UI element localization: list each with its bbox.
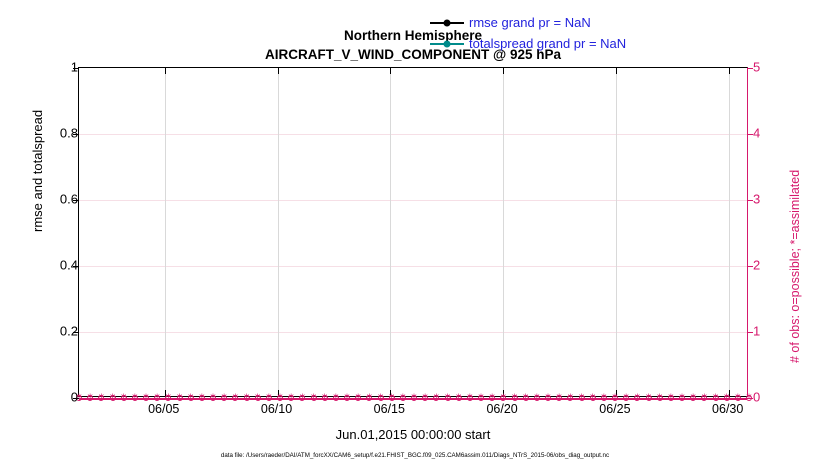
obs-assimilated-marker: * (635, 392, 641, 403)
obs-assimilated-marker: * (545, 392, 551, 403)
gridline-vertical (729, 68, 730, 396)
obs-assimilated-marker: * (132, 392, 138, 403)
x-tick-label: 06/30 (712, 402, 743, 416)
x-tick-label: 06/25 (599, 402, 630, 416)
gridline-vertical (616, 68, 617, 396)
obs-assimilated-marker: * (99, 392, 105, 403)
gridline-horizontal (79, 134, 747, 135)
tick-top (165, 68, 166, 74)
chart-legend: rmse grand pr = NaN totalspread grand pr… (430, 14, 626, 52)
obs-assimilated-marker: * (121, 392, 127, 403)
tick-top (616, 68, 617, 74)
obs-assimilated-marker: * (344, 392, 350, 403)
chart-title: Northern Hemisphere AIRCRAFT_V_WIND_COMP… (78, 26, 748, 64)
obs-assimilated-marker: * (188, 392, 194, 403)
gridline-vertical (390, 68, 391, 396)
gridline-vertical (503, 68, 504, 396)
y-tick-label: 0.8 (18, 126, 78, 141)
obs-assimilated-marker: * (579, 392, 585, 403)
obs-assimilated-marker: * (702, 392, 708, 403)
y2-tick-label: 5 (753, 60, 793, 75)
tick-top (278, 68, 279, 74)
obs-assimilated-marker: * (199, 392, 205, 403)
x-tick-label: 06/05 (148, 402, 179, 416)
tick-top (729, 68, 730, 74)
y2-tick-label: 4 (753, 126, 793, 141)
legend-label-rmse: rmse grand pr = NaN (469, 15, 591, 30)
obs-assimilated-marker: * (523, 392, 529, 403)
gridline-vertical (165, 68, 166, 396)
chart-title-line1: Northern Hemisphere (78, 26, 748, 45)
legend-marker-rmse-icon (430, 17, 464, 29)
obs-assimilated-marker: * (422, 392, 428, 403)
y-tick-label: 0.2 (18, 324, 78, 339)
obs-assimilated-marker: * (556, 392, 562, 403)
obs-assimilated-marker: * (210, 392, 216, 403)
obs-assimilated-marker: * (456, 392, 462, 403)
obs-assimilated-marker: * (322, 392, 328, 403)
obs-assimilated-marker: * (300, 392, 306, 403)
gridline-horizontal (79, 332, 747, 333)
y-tick-label: 0.6 (18, 192, 78, 207)
obs-assimilated-marker: * (746, 392, 752, 403)
y-axis-title: rmse and totalspread (30, 110, 45, 232)
obs-assimilated-marker: * (244, 392, 250, 403)
y2-tick-label: 0 (753, 390, 793, 405)
legend-item-totalspread: totalspread grand pr = NaN (430, 35, 626, 52)
x-tick-label: 06/10 (261, 402, 292, 416)
obs-assimilated-marker: * (646, 392, 652, 403)
obs-assimilated-marker: * (221, 392, 227, 403)
y2-tick-label: 2 (753, 258, 793, 273)
obs-assimilated-marker: * (255, 392, 261, 403)
obs-assimilated-marker: * (355, 392, 361, 403)
y2-tick-label: 1 (753, 324, 793, 339)
obs-assimilated-marker: * (445, 392, 451, 403)
tick-top (390, 68, 391, 74)
gridline-horizontal (79, 266, 747, 267)
chart-title-line2: AIRCRAFT_V_WIND_COMPONENT @ 925 hPa (78, 45, 748, 64)
plot-area: ****************************************… (78, 67, 748, 397)
x-tick-label: 06/15 (374, 402, 405, 416)
obs-assimilated-marker: * (434, 392, 440, 403)
obs-assimilated-marker: * (668, 392, 674, 403)
legend-marker-totalspread-icon (430, 38, 464, 50)
obs-assimilated-marker: * (657, 392, 663, 403)
gridline-horizontal (79, 200, 747, 201)
obs-assimilated-marker: * (568, 392, 574, 403)
obs-assimilated-marker: * (534, 392, 540, 403)
obs-assimilated-marker: * (233, 392, 239, 403)
y2-axis-title: # of obs: o=possible; *=assimilated (788, 170, 802, 363)
y2-tick-label: 3 (753, 192, 793, 207)
obs-assimilated-marker: * (478, 392, 484, 403)
obs-assimilated-marker: * (467, 392, 473, 403)
y-tick-label: 0.4 (18, 258, 78, 273)
chart-figure: Northern Hemisphere AIRCRAFT_V_WIND_COMP… (0, 0, 830, 470)
x-axis-title: Jun.01,2015 00:00:00 start (78, 427, 748, 442)
x-tick-label: 06/20 (486, 402, 517, 416)
obs-assimilated-marker: * (411, 392, 417, 403)
y-tick-label: 1 (18, 60, 78, 75)
obs-assimilated-marker: * (590, 392, 596, 403)
legend-item-rmse: rmse grand pr = NaN (430, 14, 626, 31)
data-file-note: data file: /Users/raeder/DAI/ATM_forcXX/… (0, 452, 830, 459)
tick-top (503, 68, 504, 74)
obs-assimilated-marker: * (690, 392, 696, 403)
y-tick-label: 0 (18, 390, 78, 405)
obs-assimilated-marker: * (110, 392, 116, 403)
gridline-vertical (278, 68, 279, 396)
obs-assimilated-marker: * (679, 392, 685, 403)
obs-assimilated-marker: * (87, 392, 93, 403)
obs-assimilated-marker: * (333, 392, 339, 403)
legend-label-totalspread: totalspread grand pr = NaN (469, 36, 626, 51)
obs-assimilated-marker: * (367, 392, 373, 403)
obs-assimilated-marker: * (311, 392, 317, 403)
